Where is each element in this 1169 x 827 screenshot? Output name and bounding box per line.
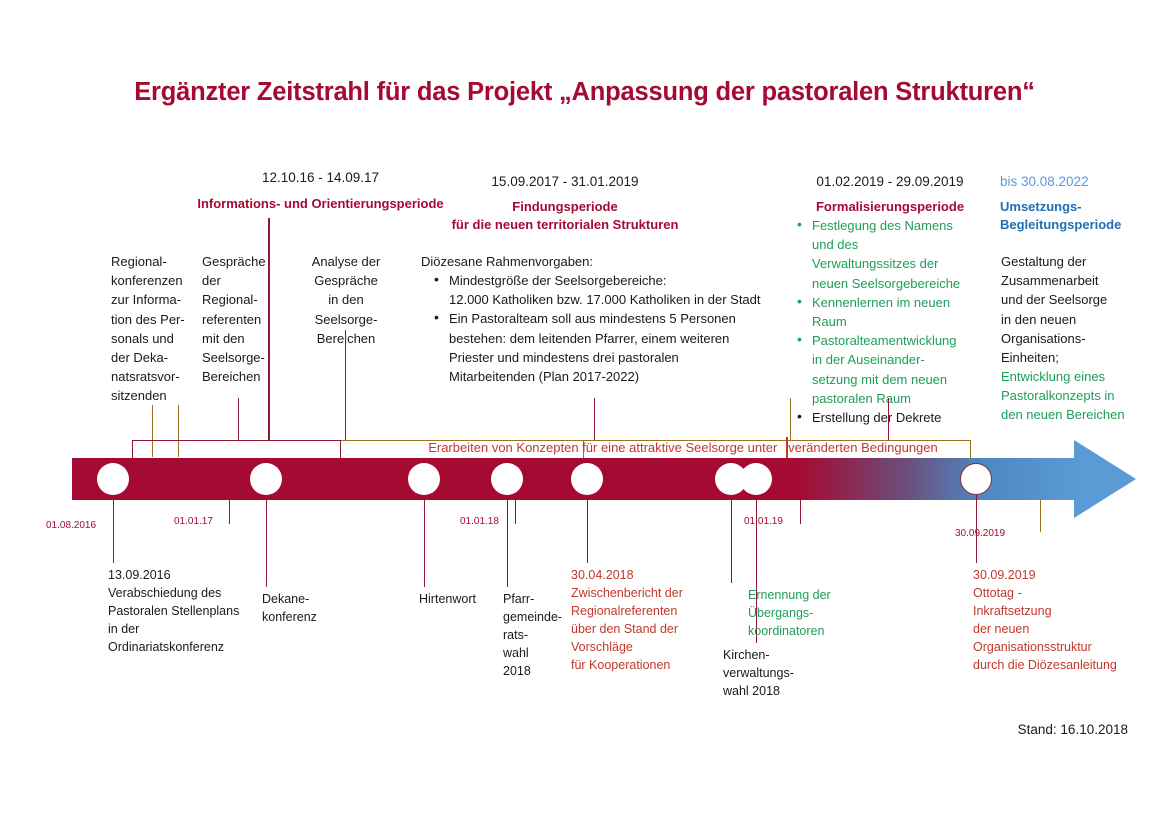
period-name-umsetzung-line2: Begleitungsperiode: [1000, 216, 1160, 233]
bottom-label-pfarrgemeinderatswahl: Pfarr- gemeinde- rats- wahl 2018: [503, 590, 573, 680]
timeline-node-2019-09[interactable]: [960, 463, 992, 495]
stem-formalisierung: [888, 398, 889, 441]
formalisierung-list: Festlegung des Namens und des Verwaltung…: [795, 216, 985, 427]
leader-uebergangskoordinatoren: [731, 495, 732, 583]
banner-label-left: Erarbeiten von Konzepten für eine attrak…: [428, 440, 777, 455]
formalisierung-item-4: Erstellung der Dekrete: [795, 408, 985, 427]
period-name-findung-line1: Findungsperiode: [400, 198, 730, 215]
timeline-page: Ergänzter Zeitstrahl für das Projekt „An…: [0, 0, 1169, 827]
divider-informations-right: [268, 218, 270, 441]
leader-hirtenwort: [424, 495, 425, 587]
rahmenvorgaben-list: Mindestgröße der Seelsorgebereiche: 12.0…: [432, 271, 782, 386]
page-title: Ergänzter Zeitstrahl für das Projekt „An…: [0, 78, 1169, 107]
bottom-label-ottotag: 30.09.2019 Ottotag - Inkraftsetzung der …: [973, 566, 1163, 674]
umsetzung-black-text: Gestaltung der Zusammenarbeit und der Se…: [1001, 252, 1146, 367]
stem-regionalkonferenzen-2: [178, 405, 179, 457]
timeline-arrowhead-icon: [1074, 440, 1136, 518]
rahmenvorgaben-intro: Diözesane Rahmenvorgaben:: [421, 252, 761, 271]
period-date-findung: 15.09.2017 - 31.01.2019: [400, 174, 730, 189]
leader-pgrwahl: [507, 495, 508, 587]
tick-date-2016-08: 01.08.2016: [46, 520, 96, 531]
bracket-end-mid: [340, 440, 341, 459]
tickline-2019-09: [1040, 500, 1041, 532]
banner-label: Erarbeiten von Konzepten für eine attrak…: [398, 440, 968, 455]
timeline-node-2016-08[interactable]: [97, 463, 129, 495]
period-name-findung-line2: für die neuen territorialen Strukturen: [400, 216, 730, 233]
bottom-label-kirchenverwaltungswahl: Kirchen- verwaltungs- wahl 2018: [723, 646, 833, 700]
rahmenvorgaben-item-1: Mindestgröße der Seelsorgebereiche: 12.0…: [432, 271, 782, 309]
column-analyse: Analyse der Gespräche in den Seelsorge- …: [298, 252, 394, 348]
leader-ottotag: [976, 495, 977, 563]
timeline-node-2018-04[interactable]: [571, 463, 603, 495]
rahmenvorgaben-item-2: Ein Pastoralteam soll aus mindestens 5 P…: [432, 309, 782, 386]
formalisierung-item-1: Festlegung des Namens und des Verwaltung…: [795, 216, 985, 293]
tick-date-2017-01: 01.01.17: [174, 516, 213, 527]
period-date-formalisierung: 01.02.2019 - 29.09.2019: [790, 174, 990, 189]
tick-date-2019-01: 01.01.19: [744, 516, 783, 527]
stem-regionalkonferenzen: [152, 405, 153, 457]
bottom-label-verabschiedung: 13.09.2016 Verabschiedung des Pastoralen…: [108, 566, 283, 656]
bracket-end-left: [132, 440, 133, 459]
formalisierung-item-2: Kennenlernen im neuen Raum: [795, 293, 985, 331]
timeline-node-2018-pgr[interactable]: [491, 463, 523, 495]
banner-label-right: veränderten Bedingungen: [788, 440, 938, 455]
bottom-label-zwischenbericht: 30.04.2018 Zwischenbericht der Regionalr…: [571, 566, 721, 674]
bottom-label-dekanekonferenz: Dekane- konferenz: [262, 590, 347, 626]
stem-gespraeche: [238, 398, 239, 441]
stem-analyse: [345, 330, 346, 441]
period-name-umsetzung-line1: Umsetzungs-: [1000, 198, 1150, 215]
tickline-2017-01: [229, 500, 230, 524]
stem-findung-mid: [594, 398, 595, 441]
tick-date-2019-09: 30.09.2019: [955, 528, 1005, 539]
bracket-rail-left: [132, 440, 340, 441]
bracket-end-right: [970, 440, 971, 459]
formalisierung-item-3: Pastoralteamentwicklung in der Auseinand…: [795, 331, 985, 408]
period-date-umsetzung: bis 30.08.2022: [1000, 174, 1145, 189]
tickline-2019-01: [800, 500, 801, 524]
timeline-node-2016-09[interactable]: [250, 463, 282, 495]
column-gespraeche: Gespräche der Regional- referenten mit d…: [202, 252, 294, 386]
stand-footer: Stand: 16.10.2018: [0, 722, 1128, 737]
stem-findung-end: [790, 398, 791, 441]
bottom-label-uebergangskoordinatoren: Ernennung der Übergangs- koordinatoren: [748, 586, 868, 640]
umsetzung-green-text: Entwicklung eines Pastoralkonzepts in de…: [1001, 367, 1153, 425]
timeline-node-2018-hirtenwort[interactable]: [408, 463, 440, 495]
tickline-2018-01: [515, 500, 516, 524]
column-regionalkonferenzen: Regional- konferenzen zur Informa- tion …: [111, 252, 199, 406]
leader-verabschiedung: [113, 495, 114, 563]
bottom-label-hirtenwort: Hirtenwort: [419, 590, 504, 608]
tick-date-2018-01: 01.01.18: [460, 516, 499, 527]
timeline-node-kvwahl[interactable]: [740, 463, 772, 495]
period-name-formalisierung: Formalisierungsperiode: [790, 198, 990, 215]
leader-zwischenbericht: [587, 495, 588, 563]
